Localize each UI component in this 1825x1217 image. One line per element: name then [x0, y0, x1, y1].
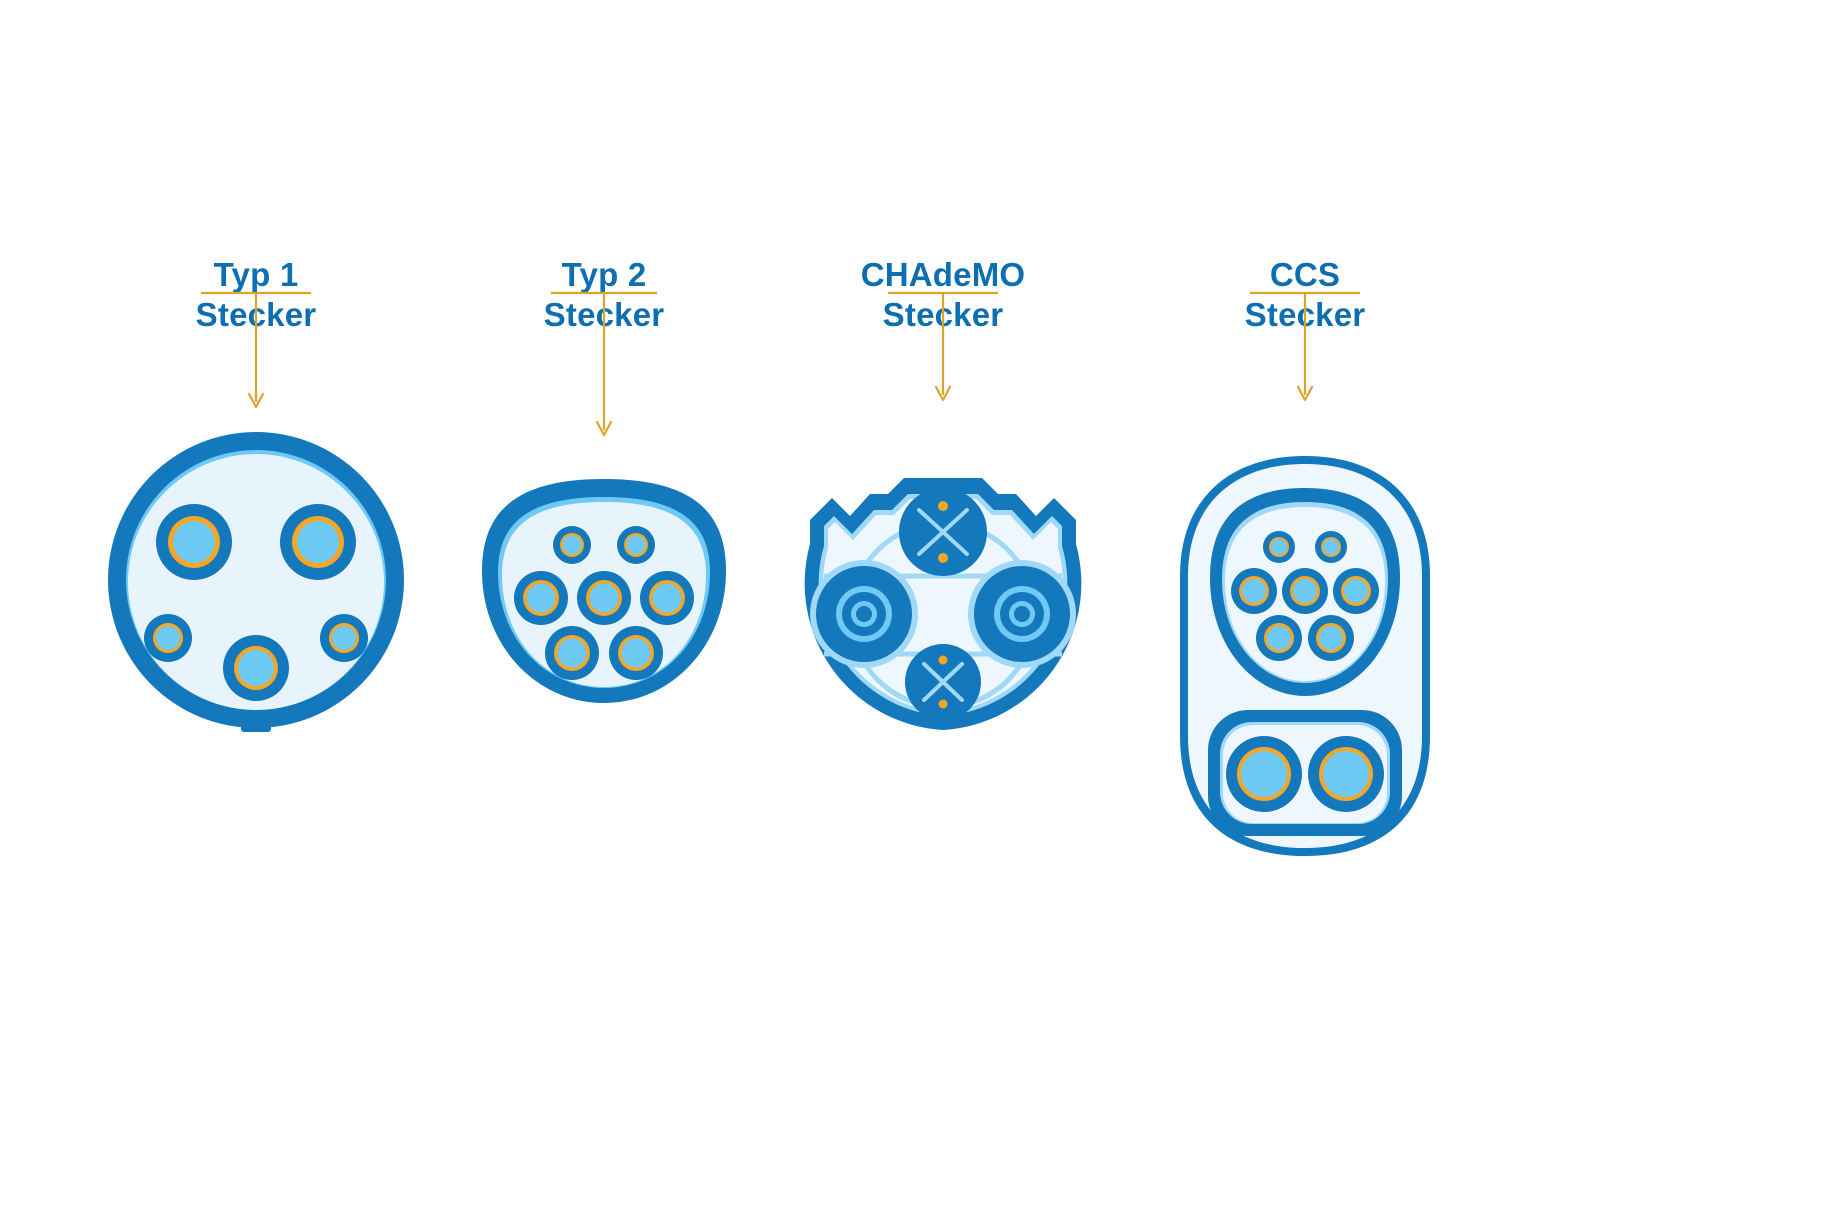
connector-title-line1: CCS: [1270, 256, 1340, 293]
chademo-pin-signal-top: [899, 488, 987, 576]
leader-line-ccs: [1095, 290, 1515, 415]
diagram-canvas: Typ 1 Stecker: [0, 0, 1825, 1217]
connector-graphic-chademo: [733, 428, 1153, 738]
typ1-pin-control-pilot: [320, 614, 368, 662]
leader-line-chademo: [733, 290, 1153, 415]
typ1-pin-ac-l1: [156, 504, 232, 580]
connector-graphic-ccs: [1095, 448, 1515, 868]
connector-title-line1: Typ 1: [214, 256, 299, 293]
chademo-pin-signal-bottom: [905, 644, 981, 720]
connector-card-chademo: CHAdeMO Stecker: [733, 0, 1153, 1217]
ccs-pin-l1: [1231, 568, 1277, 614]
typ2-pin-l3: [640, 571, 694, 625]
typ2-pin-l1: [514, 571, 568, 625]
ccs-pin-l3: [1333, 568, 1379, 614]
ccs-pin-dc-plus: [1226, 736, 1302, 812]
connector-card-ccs: CCS Stecker: [1095, 0, 1515, 1217]
typ2-pin-l2: [545, 626, 599, 680]
ccs-pin-proximity: [1263, 531, 1295, 563]
typ2-pin-earth: [577, 571, 631, 625]
ccs-pin-dc-minus: [1308, 736, 1384, 812]
connector-title-line1: CHAdeMO: [861, 256, 1026, 293]
chademo-pin-dc-minus: [810, 560, 918, 668]
ccs-pin-l2: [1256, 615, 1302, 661]
ccs-pin-control-pilot: [1315, 531, 1347, 563]
typ1-pin-earth: [223, 635, 289, 701]
connector-title-line1: Typ 2: [562, 256, 647, 293]
typ2-pin-proximity: [553, 526, 591, 564]
typ2-pin-control-pilot: [617, 526, 655, 564]
chademo-pin-dc-plus: [968, 560, 1076, 668]
typ2-pin-neutral: [609, 626, 663, 680]
typ1-pin-ac-n: [280, 504, 356, 580]
ccs-pin-earth: [1282, 568, 1328, 614]
typ1-pin-proximity: [144, 614, 192, 662]
ccs-pin-neutral: [1308, 615, 1354, 661]
